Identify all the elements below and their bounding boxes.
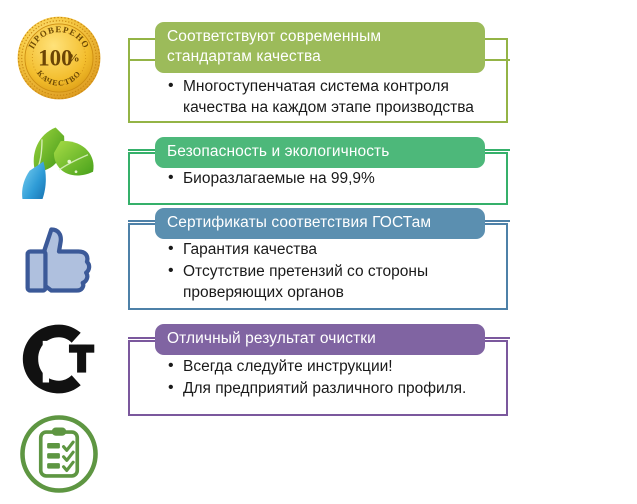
panel-banner-2-line-1: Безопасность и экологичность xyxy=(167,142,473,162)
bullet-list-1: Многоступенчатая система контроля качест… xyxy=(166,76,506,118)
panel-body-1: Многоступенчатая система контроля качест… xyxy=(166,76,506,119)
panel-body-4: Всегда следуйте инструкции! Для предприя… xyxy=(166,356,506,400)
connector-right-1 xyxy=(482,59,510,61)
list-item: Гарантия качества xyxy=(166,239,506,260)
panel-banner-4[interactable]: Отличный результат очистки xyxy=(155,324,485,355)
checklist-clipboard-icon xyxy=(17,412,101,496)
panel-body-3: Гарантия качества Отсутствие претензий с… xyxy=(166,239,506,304)
panel-banner-4-line-1: Отличный результат очистки xyxy=(167,329,473,349)
panel-banner-3-line-1: Сертификаты соответствия ГОСТам xyxy=(167,213,473,233)
bullet-list-3: Гарантия качества Отсутствие претензий с… xyxy=(166,239,506,303)
icon-slot-quality-seal: ПРОВЕРЕНО КАЧЕСТВО 100 % xyxy=(0,6,118,110)
list-item: Биоразлагаемые на 99,9% xyxy=(166,168,506,189)
connector-right-4 xyxy=(482,337,510,339)
thumbs-up-icon xyxy=(22,221,96,299)
icon-column: ПРОВЕРЕНО КАЧЕСТВО 100 % xyxy=(0,0,118,504)
infographic-root: ПРОВЕРЕНО КАЧЕСТВО 100 % xyxy=(0,0,637,504)
quality-seal-icon: ПРОВЕРЕНО КАЧЕСТВО 100 % xyxy=(13,12,105,104)
bullet-list-2: Биоразлагаемые на 99,9% xyxy=(166,168,506,189)
panel-banner-3[interactable]: Сертификаты соответствия ГОСТам xyxy=(155,208,485,239)
panel-banner-1-line-2: стандартам качества xyxy=(167,47,473,67)
icon-slot-eco-leaf xyxy=(0,113,118,205)
connector-right-2 xyxy=(482,149,510,151)
bullet-list-4: Всегда следуйте инструкции! Для предприя… xyxy=(166,356,506,399)
icon-slot-thumbs-up xyxy=(0,208,118,312)
list-item: Для предприятий различного профиля. xyxy=(166,378,506,399)
list-item: Отсутствие претензий со стороны проверяю… xyxy=(166,261,506,303)
icon-slot-gost-rst xyxy=(0,313,118,405)
connector-left-1 xyxy=(128,59,158,61)
panel-body-2: Биоразлагаемые на 99,9% xyxy=(166,168,506,190)
panel-banner-2[interactable]: Безопасность и экологичность xyxy=(155,137,485,168)
connector-left-2 xyxy=(128,149,158,151)
panel-banner-1[interactable]: Соответствуют современным стандартам кач… xyxy=(155,22,485,73)
list-item: Многоступенчатая система контроля качест… xyxy=(166,76,506,118)
list-item: Всегда следуйте инструкции! xyxy=(166,356,506,377)
svg-text:%: % xyxy=(68,51,80,65)
connector-left-3 xyxy=(128,220,158,222)
icon-slot-checklist xyxy=(0,408,118,500)
connector-left-4 xyxy=(128,337,158,339)
connector-right-3 xyxy=(482,220,510,222)
eco-leaf-droplet-icon xyxy=(16,119,102,199)
gost-rst-certification-icon xyxy=(19,321,99,397)
panel-banner-1-line-1: Соответствуют современным xyxy=(167,27,473,47)
